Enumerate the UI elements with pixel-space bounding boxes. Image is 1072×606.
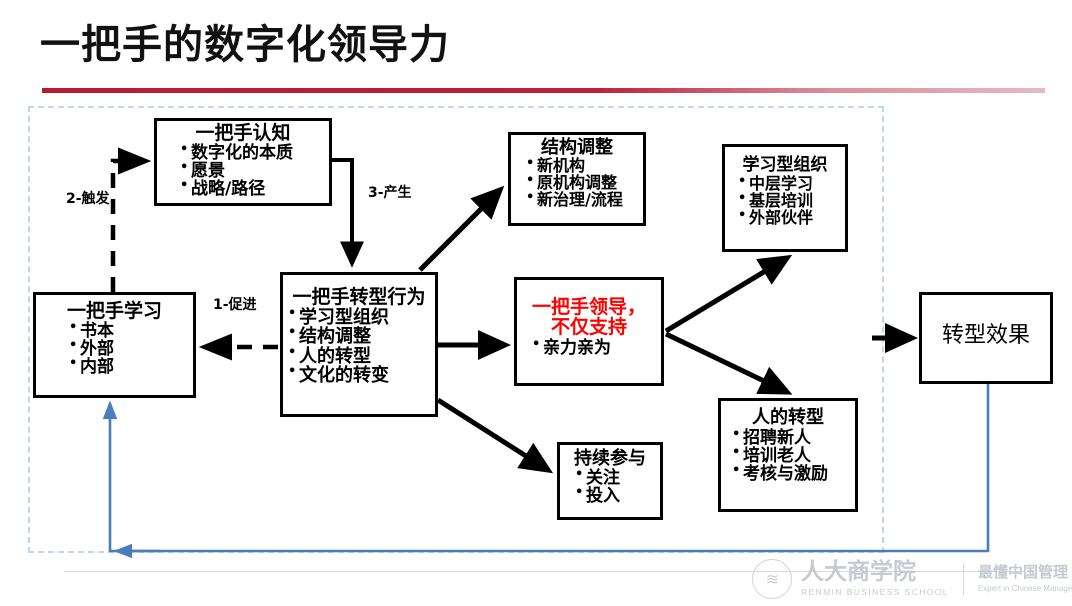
list-item: 外部伙伴 <box>749 210 845 227</box>
list-item: 文化的转变 <box>299 366 435 385</box>
list-item: 招聘新人 <box>743 429 855 447</box>
brand-tagline-cn: 最懂中国管理 <box>978 565 1072 580</box>
list-item: 考核与激励 <box>743 465 855 483</box>
list-item: 人的转型 <box>299 347 435 366</box>
node-leader-cognition[interactable]: 一把手认知 数字化的本质 愿景 战略/路径 <box>154 118 332 206</box>
node-bullet-list: 书本 外部 内部 <box>80 322 193 376</box>
brand-name-block: 人大商学院 RENMIN BUSINESS SCHOOL <box>801 561 949 597</box>
node-bullet-list: 亲力亲为 <box>543 339 661 357</box>
list-item: 结构调整 <box>299 327 435 346</box>
slide-canvas: 一把手的数字化领导力 <box>0 0 1072 606</box>
node-title-line2: 不仅支持 <box>551 316 627 338</box>
node-title: 学习型组织 <box>725 157 845 174</box>
node-title: 持续参与 <box>560 450 660 468</box>
list-item: 学习型组织 <box>299 308 435 327</box>
node-title-line1: 一把手领导， <box>532 296 646 318</box>
brand-divider <box>963 563 964 595</box>
list-item: 外部 <box>80 340 193 358</box>
node-title: 结构调整 <box>511 139 643 157</box>
list-item: 投入 <box>586 487 660 505</box>
node-bullet-list: 中层学习 基层培训 外部伙伴 <box>749 176 845 227</box>
brand-name-en: RENMIN BUSINESS SCHOOL <box>801 587 949 597</box>
edge-label-trigger: 2-触发 <box>66 188 110 208</box>
node-people-transformation[interactable]: 人的转型 招聘新人 培训老人 考核与激励 <box>718 398 858 512</box>
node-continuous-engagement[interactable]: 持续参与 关注 投入 <box>557 442 663 520</box>
node-leader-leads-not-just-supports[interactable]: 一把手领导， 不仅支持 亲力亲为 <box>514 277 664 386</box>
list-item: 内部 <box>80 358 193 376</box>
node-bullet-list: 新机构 原机构调整 新治理/流程 <box>537 158 643 209</box>
edge-label-produce: 3-产生 <box>368 182 412 202</box>
node-title: 转型效果 <box>922 325 1050 347</box>
list-item: 新治理/流程 <box>537 192 643 209</box>
list-item: 数字化的本质 <box>191 144 329 162</box>
node-title: 一把手转型行为 <box>283 288 435 307</box>
list-item: 关注 <box>586 469 660 487</box>
renmin-emblem-icon: ≋ <box>752 559 792 599</box>
edge-label-promote: 1-促进 <box>213 294 257 314</box>
list-item: 培训老人 <box>743 447 855 465</box>
brand-tagline-block: 最懂中国管理 Expert in Chinese Management <box>978 565 1072 593</box>
brand-name-cn: 人大商学院 <box>801 561 949 584</box>
brand-tagline-en: Expert in Chinese Management <box>978 584 1072 593</box>
node-title: 人的转型 <box>721 409 855 427</box>
node-leader-study[interactable]: 一把手学习 书本 外部 内部 <box>33 292 196 398</box>
node-leader-transformation-behavior[interactable]: 一把手转型行为 学习型组织 结构调整 人的转型 文化的转变 <box>280 272 438 417</box>
node-bullet-list: 数字化的本质 愿景 战略/路径 <box>191 144 329 198</box>
node-bullet-list: 学习型组织 结构调整 人的转型 文化的转变 <box>299 308 435 384</box>
emblem-glyph: ≋ <box>766 570 778 589</box>
list-item: 战略/路径 <box>191 180 329 198</box>
node-transformation-effect[interactable]: 转型效果 <box>919 292 1053 384</box>
node-learning-organization[interactable]: 学习型组织 中层学习 基层培训 外部伙伴 <box>722 144 848 252</box>
node-title: 一把手学习 <box>36 302 193 321</box>
list-item: 亲力亲为 <box>543 339 661 357</box>
node-bullet-list: 关注 投入 <box>586 469 660 505</box>
brand-logo: ≋ 人大商学院 RENMIN BUSINESS SCHOOL 最懂中国管理 Ex… <box>752 557 1072 601</box>
node-structure-adjustment[interactable]: 结构调整 新机构 原机构调整 新治理/流程 <box>508 132 646 226</box>
node-title-highlight: 一把手领导， 不仅支持 <box>517 298 661 338</box>
list-item: 书本 <box>80 322 193 340</box>
node-bullet-list: 招聘新人 培训老人 考核与激励 <box>743 429 855 483</box>
list-item: 愿景 <box>191 162 329 180</box>
node-title: 一把手认知 <box>157 124 329 143</box>
